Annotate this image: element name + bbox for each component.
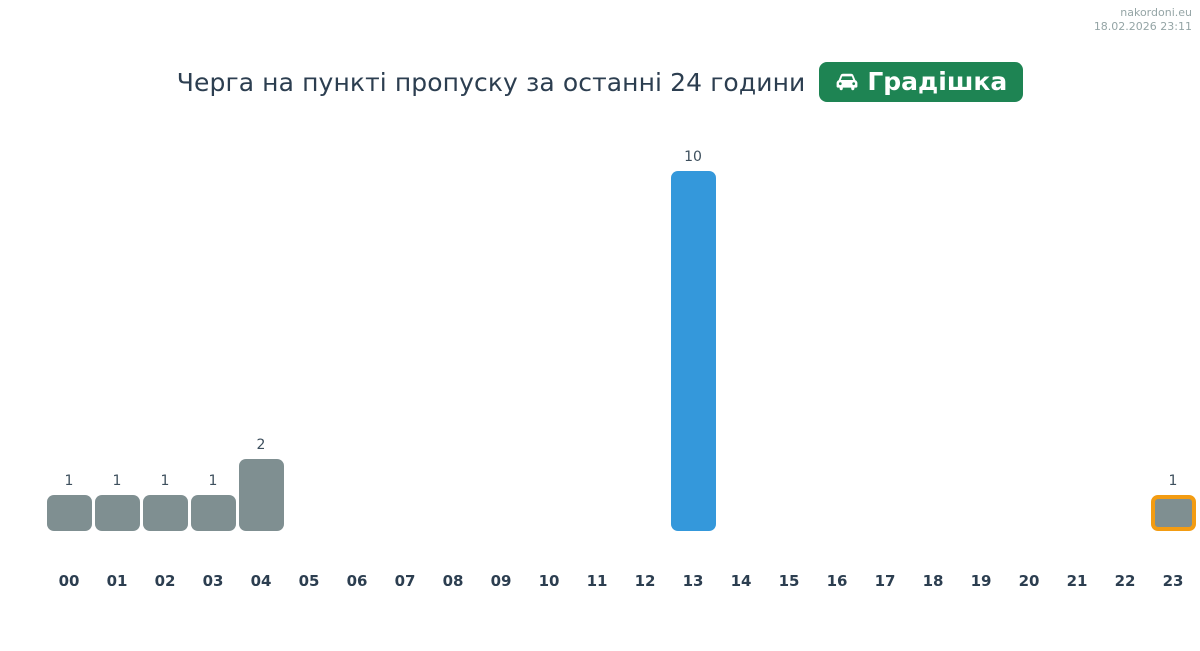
bar-slot-15: 15 <box>765 0 813 651</box>
x-axis-tick-00: 00 <box>45 572 93 590</box>
bar-slot-21: 21 <box>1053 0 1101 651</box>
bar-slot-09: 09 <box>477 0 525 651</box>
bar-04[interactable] <box>239 459 284 531</box>
bar-slot-11: 11 <box>573 0 621 651</box>
x-axis-tick-01: 01 <box>93 572 141 590</box>
bar-slot-03: 103 <box>189 0 237 651</box>
x-axis-tick-22: 22 <box>1101 572 1149 590</box>
x-axis-tick-04: 04 <box>237 572 285 590</box>
x-axis-tick-05: 05 <box>285 572 333 590</box>
x-axis-tick-15: 15 <box>765 572 813 590</box>
x-axis-tick-09: 09 <box>477 572 525 590</box>
bar-slot-04: 204 <box>237 0 285 651</box>
bar-slot-08: 08 <box>429 0 477 651</box>
bar-value-label-02: 1 <box>141 473 189 489</box>
bar-value-label-03: 1 <box>189 473 237 489</box>
bar-slot-14: 14 <box>717 0 765 651</box>
bar-slot-16: 16 <box>813 0 861 651</box>
bar-13[interactable] <box>671 171 716 531</box>
bar-slot-22: 22 <box>1101 0 1149 651</box>
bar-slot-01: 101 <box>93 0 141 651</box>
x-axis-tick-07: 07 <box>381 572 429 590</box>
bar-00[interactable] <box>47 495 92 531</box>
x-axis-tick-11: 11 <box>573 572 621 590</box>
bar-value-label-23: 1 <box>1149 473 1197 489</box>
x-axis-tick-17: 17 <box>861 572 909 590</box>
bar-slot-13: 1013 <box>669 0 717 651</box>
x-axis-tick-14: 14 <box>717 572 765 590</box>
x-axis-tick-06: 06 <box>333 572 381 590</box>
x-axis-tick-12: 12 <box>621 572 669 590</box>
bar-chart: 1001011021032040506070809101112101314151… <box>0 0 1200 651</box>
bar-slot-07: 07 <box>381 0 429 651</box>
bar-slot-19: 19 <box>957 0 1005 651</box>
bar-03[interactable] <box>191 495 236 531</box>
bar-02[interactable] <box>143 495 188 531</box>
bar-01[interactable] <box>95 495 140 531</box>
x-axis-tick-10: 10 <box>525 572 573 590</box>
bar-slot-20: 20 <box>1005 0 1053 651</box>
bar-value-label-00: 1 <box>45 473 93 489</box>
x-axis-tick-02: 02 <box>141 572 189 590</box>
bar-slot-18: 18 <box>909 0 957 651</box>
bar-value-label-13: 10 <box>669 149 717 165</box>
bar-slot-12: 12 <box>621 0 669 651</box>
bar-slot-17: 17 <box>861 0 909 651</box>
bar-value-label-04: 2 <box>237 437 285 453</box>
x-axis-tick-08: 08 <box>429 572 477 590</box>
x-axis-tick-13: 13 <box>669 572 717 590</box>
bar-value-label-01: 1 <box>93 473 141 489</box>
x-axis-tick-19: 19 <box>957 572 1005 590</box>
x-axis-tick-21: 21 <box>1053 572 1101 590</box>
bar-slot-02: 102 <box>141 0 189 651</box>
x-axis-tick-20: 20 <box>1005 572 1053 590</box>
bar-slot-06: 06 <box>333 0 381 651</box>
x-axis-tick-03: 03 <box>189 572 237 590</box>
bar-slot-10: 10 <box>525 0 573 651</box>
x-axis-tick-18: 18 <box>909 572 957 590</box>
bar-slot-23: 123 <box>1149 0 1197 651</box>
x-axis-tick-16: 16 <box>813 572 861 590</box>
bar-slot-05: 05 <box>285 0 333 651</box>
bar-slot-00: 100 <box>45 0 93 651</box>
x-axis-tick-23: 23 <box>1149 572 1197 590</box>
bar-23[interactable] <box>1151 495 1196 531</box>
